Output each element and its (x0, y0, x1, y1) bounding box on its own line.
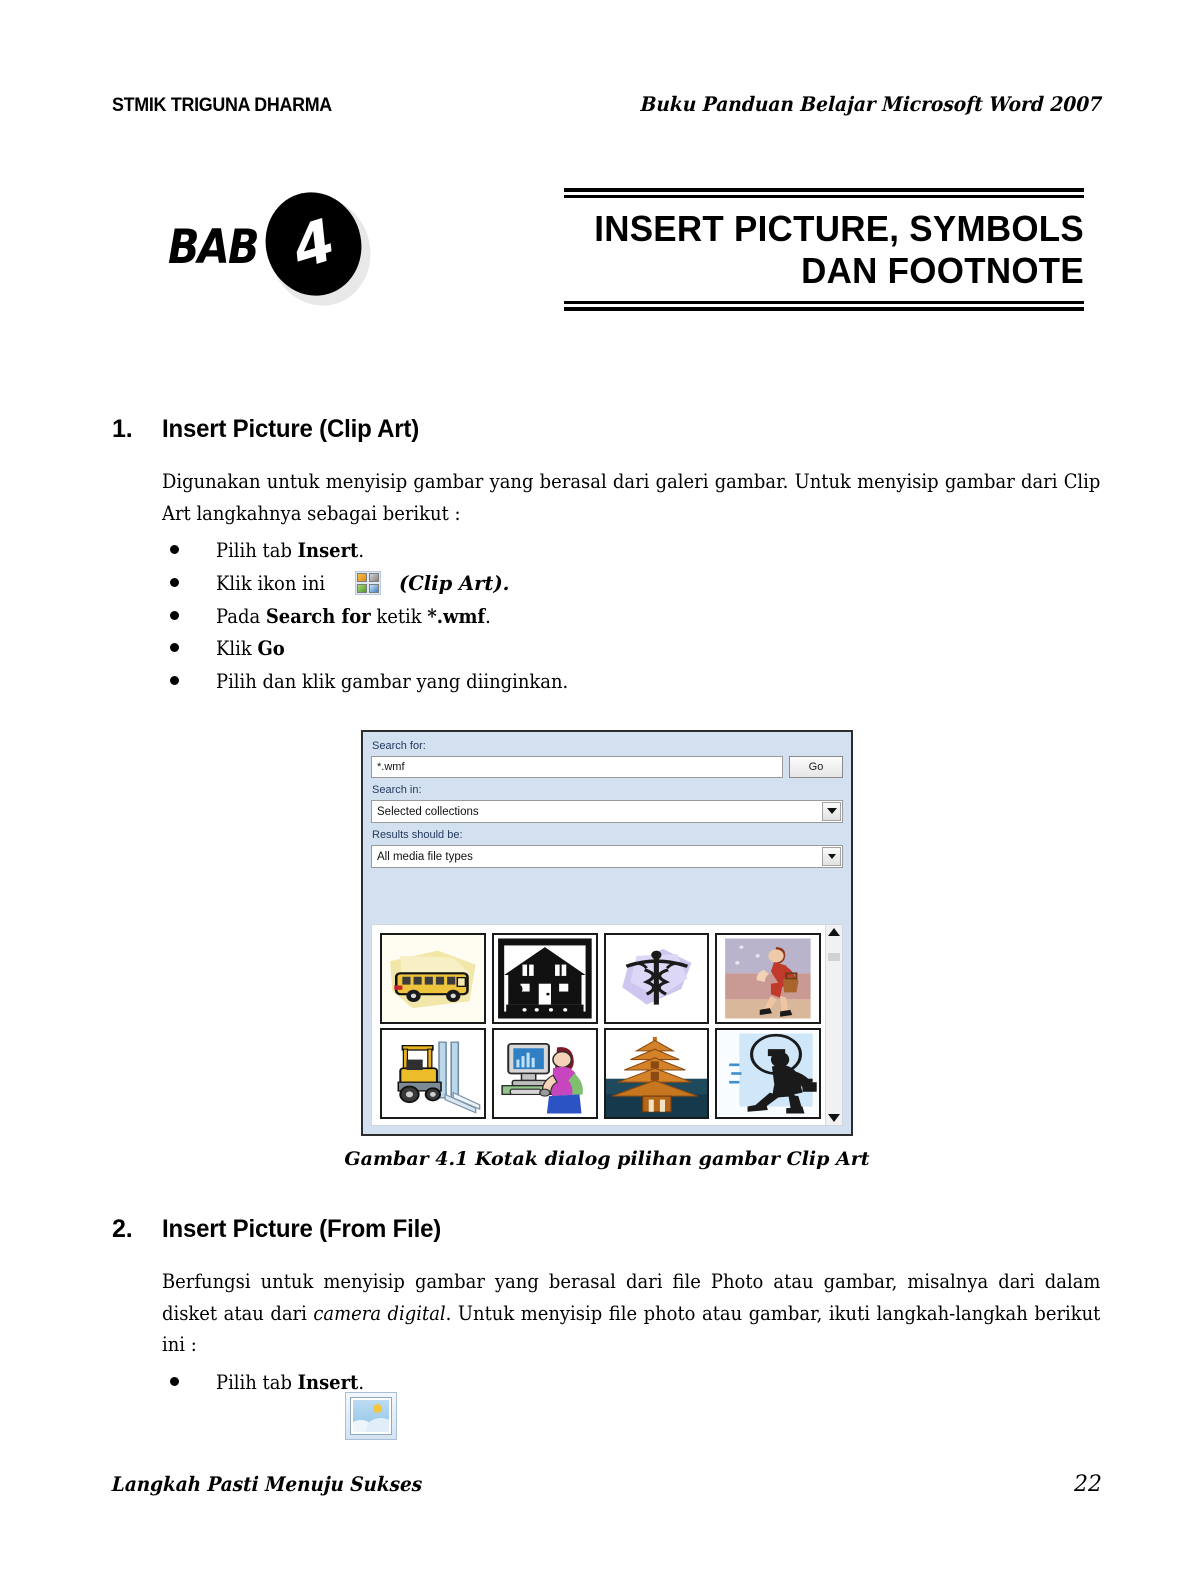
section-2-heading: 2. Insert Picture (From File) (112, 1215, 1102, 1244)
list-item-text: Pilih tab Insert. (216, 1367, 364, 1400)
thumbnail-businessman-running[interactable] (715, 1028, 821, 1119)
figure-4-1: Search for: *.wmf Go Search in: Selected… (112, 730, 1102, 1170)
scroll-down-icon[interactable] (828, 1114, 840, 1122)
header-book-title: Buku Panduan Belajar Microsoft Word 2007 (640, 92, 1103, 116)
search-in-dropdown[interactable]: Selected collections (371, 800, 843, 823)
results-scrollbar[interactable] (825, 925, 842, 1125)
results-should-be-label: Results should be: (372, 828, 843, 843)
figure-caption: Gambar 4.1 Kotak dialog pilihan gambar C… (112, 1148, 1102, 1170)
page-number: 22 (1074, 1472, 1102, 1497)
results-should-be-value: All media file types (377, 851, 473, 863)
chapter-logo-word: BAB (168, 220, 258, 275)
insert-picture-icon[interactable] (345, 1392, 397, 1440)
woman-walking-icon (717, 935, 819, 1022)
chapter-title-line-2: DAN FOOTNOTE (580, 250, 1084, 292)
bullet-icon (170, 578, 179, 587)
chevron-down-icon[interactable] (822, 802, 841, 821)
chapter-title-line-1: INSERT PICTURE, SYMBOLS (580, 208, 1084, 250)
woman-at-computer-icon (494, 1030, 596, 1117)
section-2-paragraph: Berfungsi untuk menyisip gambar yang ber… (162, 1266, 1100, 1361)
list-item-text: Pilih tab Insert. (216, 535, 364, 568)
section-1-title: Insert Picture (Clip Art) (162, 415, 1064, 444)
title-rule-bottom (564, 301, 1084, 311)
search-in-value: Selected collections (377, 806, 479, 818)
clip-art-icon-tile-4 (369, 584, 379, 593)
bullet-icon (170, 643, 179, 652)
results-should-be-dropdown[interactable]: All media file types (371, 845, 843, 868)
caduceus-icon (606, 935, 708, 1022)
list-item: Klik Go (162, 633, 1102, 666)
chapter-block: BAB 4 INSERT PICTURE, SYMBOLS DAN FOOTNO… (112, 180, 1102, 330)
sun-icon (373, 1404, 382, 1413)
footer-tagline: Langkah Pasti Menuju Sukses (111, 1472, 422, 1496)
list-item-text: Klik ikon ini (216, 568, 325, 601)
section-2-number: 2. (112, 1215, 162, 1244)
thumbnail-pagoda[interactable] (604, 1028, 710, 1119)
list-item: Pada Search for ketik *.wmf. (162, 601, 1102, 634)
school-bus-icon (382, 935, 484, 1022)
document-page: STMIK TRIGUNA DHARMA Buku Panduan Belaja… (0, 0, 1200, 1575)
section-1: 1. Insert Picture (Clip Art) Digunakan u… (112, 415, 1102, 699)
thumbnail-house[interactable] (492, 933, 598, 1024)
search-for-label: Search for: (372, 739, 843, 754)
chapter-title: INSERT PICTURE, SYMBOLS DAN FOOTNOTE (580, 208, 1084, 293)
pagoda-icon (606, 1030, 708, 1117)
search-in-label: Search in: (372, 783, 843, 798)
forklift-icon (382, 1030, 484, 1117)
list-item: Pilih dan klik gambar yang diinginkan. (162, 666, 1102, 699)
thumbnail-forklift[interactable] (380, 1028, 486, 1119)
section-1-heading: 1. Insert Picture (Clip Art) (112, 415, 1102, 444)
clip-art-dialog: Search for: *.wmf Go Search in: Selected… (361, 730, 853, 1136)
title-rule-top (564, 188, 1084, 198)
clip-art-icon-tile-2 (369, 573, 379, 582)
thumbnail-woman-at-computer[interactable] (492, 1028, 598, 1119)
hill-shape-2 (366, 1418, 391, 1434)
section-2-title: Insert Picture (From File) (162, 1215, 1064, 1244)
section-2: 2. Insert Picture (From File) Berfungsi … (112, 1215, 1102, 1399)
clip-art-caption: (Clip Art). (399, 572, 509, 595)
list-item: Klik ikon ini (Clip Art). (162, 568, 1102, 601)
bullet-icon (170, 1377, 179, 1386)
chapter-logo: BAB 4 (162, 188, 392, 308)
list-item-text: Klik Go (216, 633, 285, 666)
businessman-running-icon (717, 1030, 819, 1117)
list-item-text: Pada Search for ketik *.wmf. (216, 601, 491, 634)
bullet-icon (170, 545, 179, 554)
search-for-row: *.wmf Go (371, 756, 843, 778)
scroll-up-icon[interactable] (828, 928, 840, 936)
results-pane (371, 924, 843, 1126)
thumbnail-school-bus[interactable] (380, 933, 486, 1024)
clip-art-icon[interactable] (355, 571, 381, 595)
thumbnail-caduceus[interactable] (604, 933, 710, 1024)
clip-art-icon-tile-3 (357, 584, 367, 593)
page-header: STMIK TRIGUNA DHARMA Buku Panduan Belaja… (112, 92, 1102, 117)
header-institution: STMIK TRIGUNA DHARMA (112, 95, 332, 117)
bullet-icon (170, 611, 179, 620)
section-1-bullet-list: Pilih tab Insert. Klik ikon ini (Clip Ar… (112, 535, 1102, 699)
house-icon (494, 935, 596, 1022)
page-footer: Langkah Pasti Menuju Sukses 22 (112, 1472, 1102, 1497)
chevron-down-icon[interactable] (822, 847, 841, 866)
list-item: Pilih tab Insert. (162, 535, 1102, 568)
picture-frame (351, 1398, 391, 1434)
go-button[interactable]: Go (789, 756, 843, 778)
thumbnail-woman-walking[interactable] (715, 933, 821, 1024)
search-input[interactable]: *.wmf (371, 756, 783, 778)
list-item: Pilih tab Insert. (162, 1367, 1102, 1400)
chapter-title-block: INSERT PICTURE, SYMBOLS DAN FOOTNOTE (564, 188, 1084, 311)
list-item-text: Pilih dan klik gambar yang diinginkan. (216, 666, 568, 699)
bullet-icon (170, 676, 179, 685)
clip-art-icon-tile-1 (357, 573, 367, 582)
scrollbar-thumb[interactable] (828, 953, 840, 961)
thumbnail-grid (372, 925, 825, 1125)
section-2-bullet-list: Pilih tab Insert. (112, 1367, 1102, 1400)
section-1-number: 1. (112, 415, 162, 444)
section-1-paragraph: Digunakan untuk menyisip gambar yang ber… (162, 466, 1100, 529)
